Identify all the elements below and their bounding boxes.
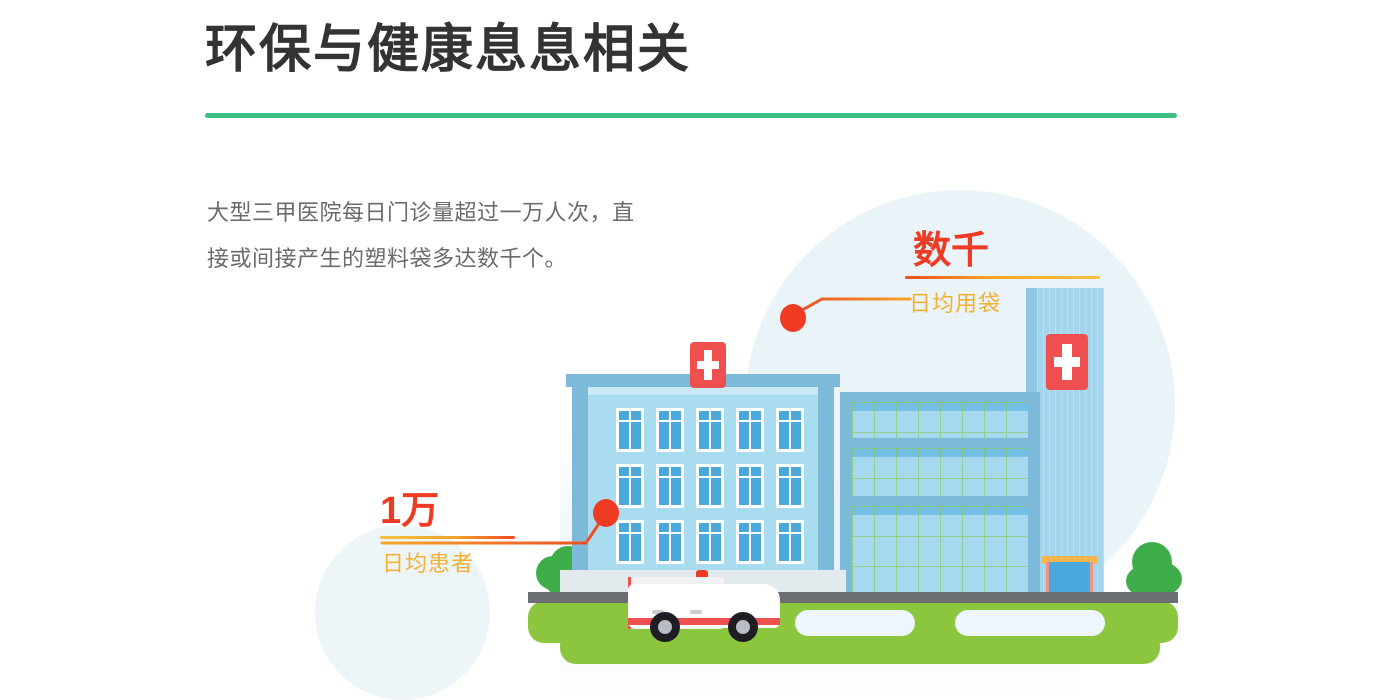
building-window [736, 408, 764, 452]
building-window [616, 520, 644, 564]
infographic-page: 环保与健康息息相关 大型三甲医院每日门诊量超过一万人次，直接或间接产生的塑料袋多… [0, 0, 1400, 700]
gray-road [528, 592, 1178, 603]
building-pier [818, 374, 834, 596]
red-cross-sign [690, 342, 726, 388]
ambulance-wheel [650, 612, 680, 642]
ambulance-handle [690, 610, 702, 614]
callout-bags-label: 日均用袋 [905, 286, 1100, 318]
callout-patients-value: 1万 [380, 492, 515, 530]
glass-band [852, 448, 1028, 496]
building-window [736, 520, 764, 564]
glass-band [852, 402, 1028, 438]
building-window [736, 464, 764, 508]
path-marker [795, 610, 915, 636]
building-window [656, 408, 684, 452]
glass-wing-ledge [840, 392, 1040, 402]
building-window [656, 464, 684, 508]
building-window [776, 520, 804, 564]
path-marker [955, 610, 1105, 636]
tower-entrance-door [1046, 562, 1093, 596]
red-cross-sign [1046, 334, 1088, 390]
building-window [776, 464, 804, 508]
building-window [616, 464, 644, 508]
building-window [776, 408, 804, 452]
callout-bags: 数千 日均用袋 [905, 232, 1100, 318]
callout-bags-value: 数千 [905, 232, 1100, 270]
building-window [616, 408, 644, 452]
building-window [696, 408, 724, 452]
callout-patients: 1万 日均患者 [380, 492, 515, 578]
building-pier [572, 374, 588, 596]
ambulance [628, 572, 780, 644]
ambulance-wheel [728, 612, 758, 642]
glass-band [852, 506, 1028, 592]
callout-patients-label: 日均患者 [380, 546, 515, 578]
building-window [696, 520, 724, 564]
hospital-main-cornice [582, 387, 824, 395]
hospital-illustration [0, 0, 1400, 700]
building-window [656, 520, 684, 564]
building-window [696, 464, 724, 508]
callout-patients-rule [380, 536, 515, 539]
callout-bags-rule [905, 276, 1100, 279]
